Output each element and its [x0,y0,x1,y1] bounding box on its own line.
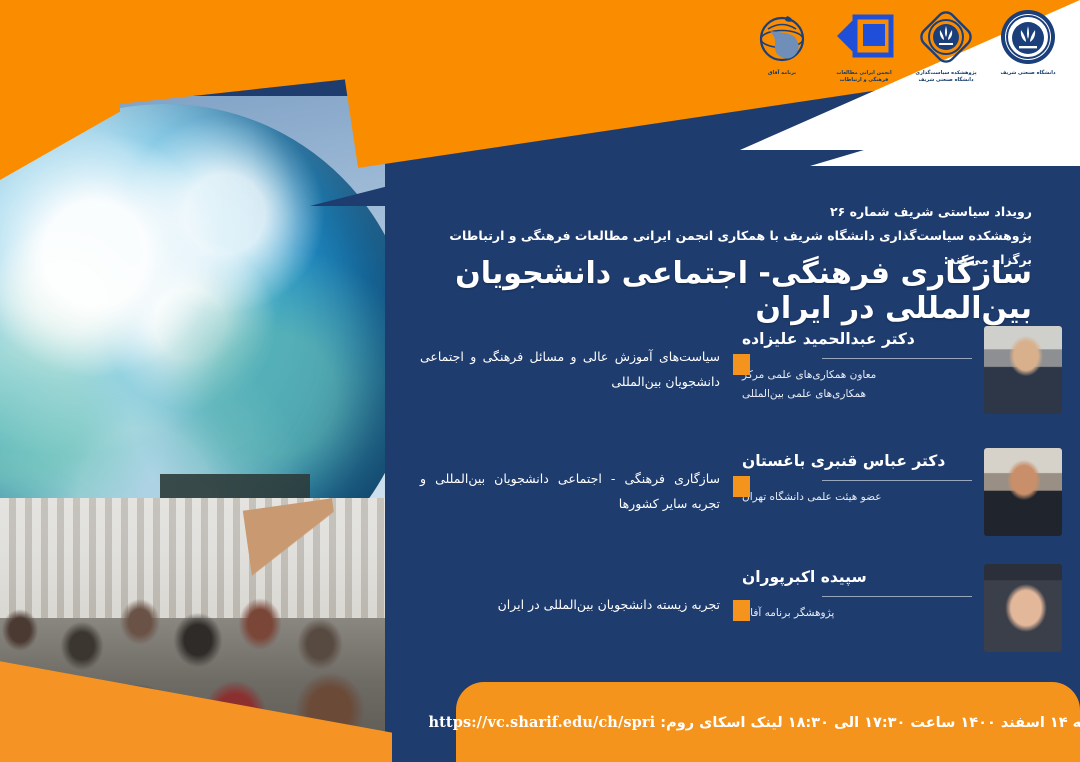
speaker-name-2: دکتر عباس قنبری باغستان [742,450,972,473]
speaker-info-3: سپیده اکبرپوران پژوهشگر برنامه آفاق [742,566,972,623]
speaker-name-3: سپیده اکبرپوران [742,566,972,589]
speaker-photo-2 [984,448,1062,536]
event-poster: برنامه آفاق انجمن ایرانی مطالعات فرهنگی … [0,0,1080,762]
footer-text: شنبه ۱۴ اسفند ۱۴۰۰ ساعت ۱۷:۳۰ الی ۱۸:۳۰ … [428,714,1080,731]
talk-title-1: سیاست‌های آموزش عالی و مسائل فرهنگی و اج… [420,344,720,394]
speaker-photo-1 [984,326,1062,414]
speaker-info-2: دکتر عباس قنبری باغستان عضو هیئت علمی دا… [742,450,972,507]
speaker-affiliation-3-line-1: پژوهشگر برنامه آفاق [742,604,972,622]
speaker-photo-3 [984,564,1062,652]
speaker-affiliation-1-line-2: همکاری‌های علمی بین‌المللی [742,385,972,403]
speaker-affiliation-2-line-1: عضو هیئت علمی دانشگاه تهران [742,488,972,506]
poster-content: رویداد سیاستی شریف شماره ۲۶ پژوهشکده سیا… [380,0,1080,762]
speaker-name-1: دکتر عبدالحمید علیزاده [742,328,972,351]
speaker-row-1: دکتر عبدالحمید علیزاده معاون همکاری‌های … [380,318,1080,428]
bullet-square-icon-2 [733,476,750,497]
talk-title-3: تجربه زیسته دانشجویان بین‌المللی در ایرا… [420,592,720,617]
talk-title-2: سازگاری فرهنگی - اجتماعی دانشجویان بین‌ا… [420,466,720,516]
speaker-row-2: دکتر عباس قنبری باغستان عضو هیئت علمی دا… [380,440,1080,550]
speaker-row-3: سپیده اکبرپوران پژوهشگر برنامه آفاق تجرب… [380,556,1080,666]
divider-1 [822,358,972,359]
footer-bar: شنبه ۱۴ اسفند ۱۴۰۰ ساعت ۱۷:۳۰ الی ۱۸:۳۰ … [456,682,1080,762]
page-title: سازگاری فرهنگی- اجتماعی دانشجویان بین‌ال… [412,256,1032,326]
bullet-square-icon-3 [733,600,750,621]
divider-2 [822,480,972,481]
meeting-link[interactable]: https://vc.sharif.edu/ch/spri [428,714,655,731]
bullet-square-icon-1 [733,354,750,375]
left-image-column [0,96,385,762]
divider-3 [822,596,972,597]
footer-datetime: شنبه ۱۴ اسفند ۱۴۰۰ ساعت ۱۷:۳۰ الی ۱۸:۳۰ … [660,715,1080,731]
speaker-affiliation-1-line-1: معاون همکاری‌های علمی مرکز [742,366,972,384]
kicker-line-1: رویداد سیاستی شریف شماره ۲۶ [432,200,1032,224]
speaker-info-1: دکتر عبدالحمید علیزاده معاون همکاری‌های … [742,328,972,403]
raised-hand [243,498,347,619]
